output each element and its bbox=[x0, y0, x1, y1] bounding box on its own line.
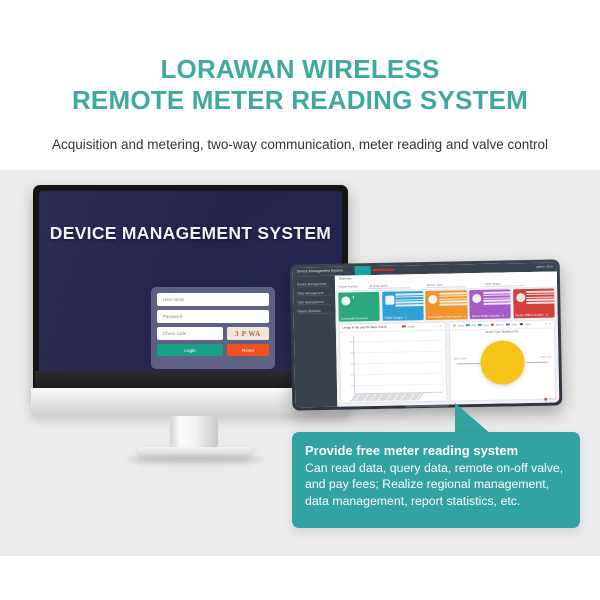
pie-leader-left bbox=[456, 363, 480, 364]
tablet-screen: Device Management System admin | Exit De… bbox=[293, 262, 560, 407]
device-type-pie-panel: Water Gas Heat Electric Other bbox=[448, 320, 556, 402]
product-stage: DEVICE MANAGEMENT SYSTEM User name Passw… bbox=[0, 170, 600, 556]
legend-swatch-electric bbox=[491, 324, 495, 326]
pie-slice-label-left: Water 100% bbox=[454, 358, 467, 360]
stat-card-number-0: 3 bbox=[352, 295, 354, 299]
pie-chart-title: Device Type Statistics (%) bbox=[449, 329, 554, 335]
header: LORAWAN WIRELESS REMOTE METER READING SY… bbox=[0, 0, 600, 170]
filter-underline-3 bbox=[484, 285, 524, 286]
y-tick bbox=[350, 352, 354, 353]
meter-icon bbox=[385, 296, 394, 305]
sidebar-item-report-statistics[interactable]: Report Statistics bbox=[297, 308, 331, 315]
y-tick bbox=[350, 363, 354, 364]
tablet-device: Device Management System admin | Exit De… bbox=[290, 259, 563, 410]
monitor-base-shadow bbox=[125, 456, 265, 463]
sidebar-item-user-management[interactable]: User Management bbox=[297, 299, 331, 306]
stat-card-label-1: Online Gauges : 0 bbox=[384, 315, 423, 320]
y-tick bbox=[350, 374, 354, 375]
feature-callout: Provide free meter reading system Can re… bbox=[292, 432, 580, 528]
legend-label-electric: Electric bbox=[496, 323, 504, 326]
login-card: User name Password Check code 3 P WA Log… bbox=[151, 287, 275, 369]
tablet-brand: Device Management System bbox=[297, 269, 343, 274]
stat-card-label-2: Consumption Total Number : 0 bbox=[428, 314, 467, 319]
gridline bbox=[354, 340, 442, 342]
gridline bbox=[354, 362, 442, 364]
usage-line-chart-panel: Usage in the past 30 days (m3/d) Usage –… bbox=[339, 322, 447, 404]
legend-label-heat: Heat bbox=[483, 324, 488, 327]
tablet-user-status[interactable]: admin | Exit bbox=[536, 265, 553, 269]
legend-label-gas: Gas bbox=[472, 324, 476, 327]
page-title: LORAWAN WIRELESS REMOTE METER READING SY… bbox=[0, 54, 600, 116]
legend-swatch-usage bbox=[402, 326, 406, 328]
usage-chart-tools[interactable]: – □ ✕ bbox=[432, 324, 442, 327]
legend-swatch-valve bbox=[519, 323, 523, 325]
stat-card-online-gauges[interactable]: Online Gauges : 0 bbox=[382, 291, 424, 321]
tablet-main-content: Overview Export Number : All (1111-2222)… bbox=[335, 271, 559, 406]
checkcode-input[interactable]: Check code bbox=[157, 327, 223, 340]
stat-card-lines-3 bbox=[483, 291, 511, 306]
tablet-status-text: 0 | 0 | 0 bbox=[548, 397, 556, 400]
tablet-active-tab[interactable] bbox=[355, 266, 371, 275]
stat-card-row: 3 Community Reserved Online Gauges : 0 bbox=[338, 289, 555, 322]
legend-label-other: Other bbox=[511, 323, 517, 326]
login-button[interactable]: Login bbox=[157, 344, 223, 356]
legend-swatch-other bbox=[506, 324, 510, 326]
callout-body: Can read data, query data, remote on-off… bbox=[305, 460, 567, 509]
page-title-line1: LORAWAN WIRELESS bbox=[0, 54, 600, 85]
tablet-home-indicator bbox=[405, 404, 449, 406]
page-title-line2: REMOTE METER READING SYSTEM bbox=[0, 85, 600, 116]
reset-button[interactable]: Reset bbox=[227, 344, 269, 356]
callout-heading: Provide free meter reading system bbox=[305, 443, 567, 458]
chart-panel-row: Usage in the past 30 days (m3/d) Usage –… bbox=[339, 320, 556, 404]
status-dot-icon bbox=[544, 398, 547, 401]
pie-chart-tools[interactable]: – □ ✕ bbox=[542, 322, 552, 325]
legend-label-water: Water bbox=[458, 324, 464, 327]
pie-chart-circle[interactable] bbox=[480, 340, 525, 385]
clock-icon bbox=[516, 293, 525, 302]
username-input[interactable]: User name bbox=[157, 293, 269, 306]
filter-label-export-number: Export Number : bbox=[339, 284, 359, 288]
tag-icon bbox=[341, 296, 350, 305]
x-axis-tick-labels bbox=[355, 393, 445, 404]
stat-card-lines-1 bbox=[395, 293, 423, 308]
tablet-status-indicators[interactable]: 0 | 0 | 0 bbox=[544, 397, 557, 400]
pie-leader-right bbox=[527, 362, 549, 363]
legend-swatch-water bbox=[452, 325, 456, 327]
legend-label-valve: Valve bbox=[525, 323, 531, 326]
sidebar-item-device-management[interactable]: Device Management bbox=[297, 281, 331, 288]
stat-card-lines-2 bbox=[439, 292, 467, 307]
callout-pointer bbox=[455, 403, 491, 434]
usage-chart-legend[interactable]: Usage bbox=[402, 325, 414, 328]
monitor-stand-neck bbox=[170, 416, 218, 449]
legend-swatch-heat bbox=[478, 324, 482, 326]
checkcode-row: Check code 3 P WA bbox=[157, 327, 269, 340]
gridline bbox=[354, 351, 442, 353]
captcha-image[interactable]: 3 P WA bbox=[227, 327, 269, 340]
filter-underline-2 bbox=[426, 286, 466, 287]
stat-card-lines-4 bbox=[527, 290, 555, 305]
stat-card-consumption-total[interactable]: Consumption Total Number : 0 bbox=[426, 290, 468, 320]
stat-card-label-4: Device Offline Number : 0 bbox=[515, 312, 554, 317]
monitor-screen-title: DEVICE MANAGEMENT SYSTEM bbox=[39, 223, 342, 244]
tablet-frame: Device Management System admin | Exit De… bbox=[290, 259, 563, 410]
filter-underline-1 bbox=[368, 287, 410, 288]
page-subtitle: Acquisition and metering, two-way commun… bbox=[0, 137, 600, 152]
stat-card-community-reserved[interactable]: 3 Community Reserved bbox=[338, 292, 380, 322]
legend-swatch-gas bbox=[466, 324, 470, 326]
y-tick bbox=[350, 341, 354, 342]
clock-icon bbox=[429, 295, 438, 304]
stat-card-label-0: Community Reserved bbox=[341, 315, 380, 320]
tablet-topbar-accent bbox=[373, 269, 395, 271]
poster-root: LORAWAN WIRELESS REMOTE METER READING SY… bbox=[0, 0, 600, 600]
tablet-sidebar: Device Management Data Management User M… bbox=[293, 276, 338, 408]
tab-overview[interactable]: Overview bbox=[339, 277, 352, 281]
stat-card-label-3: Device Online Number : 0 bbox=[472, 313, 511, 318]
clock-icon bbox=[472, 294, 481, 303]
stat-card-device-offline[interactable]: Device Offline Number : 0 bbox=[513, 289, 555, 319]
sidebar-item-data-management[interactable]: Data Management bbox=[297, 290, 331, 297]
pie-slice-label-right: Others 0% bbox=[541, 357, 552, 359]
data-point-marker[interactable] bbox=[352, 384, 357, 391]
password-input[interactable]: Password bbox=[157, 310, 269, 323]
stat-card-device-online[interactable]: Device Online Number : 0 bbox=[469, 289, 511, 319]
gridline bbox=[354, 373, 442, 375]
legend-label-usage: Usage bbox=[407, 325, 414, 328]
usage-chart-title: Usage in the past 30 days (m3/d) bbox=[342, 325, 386, 330]
gridline bbox=[354, 384, 442, 386]
login-buttons: Login Reset bbox=[157, 344, 269, 356]
